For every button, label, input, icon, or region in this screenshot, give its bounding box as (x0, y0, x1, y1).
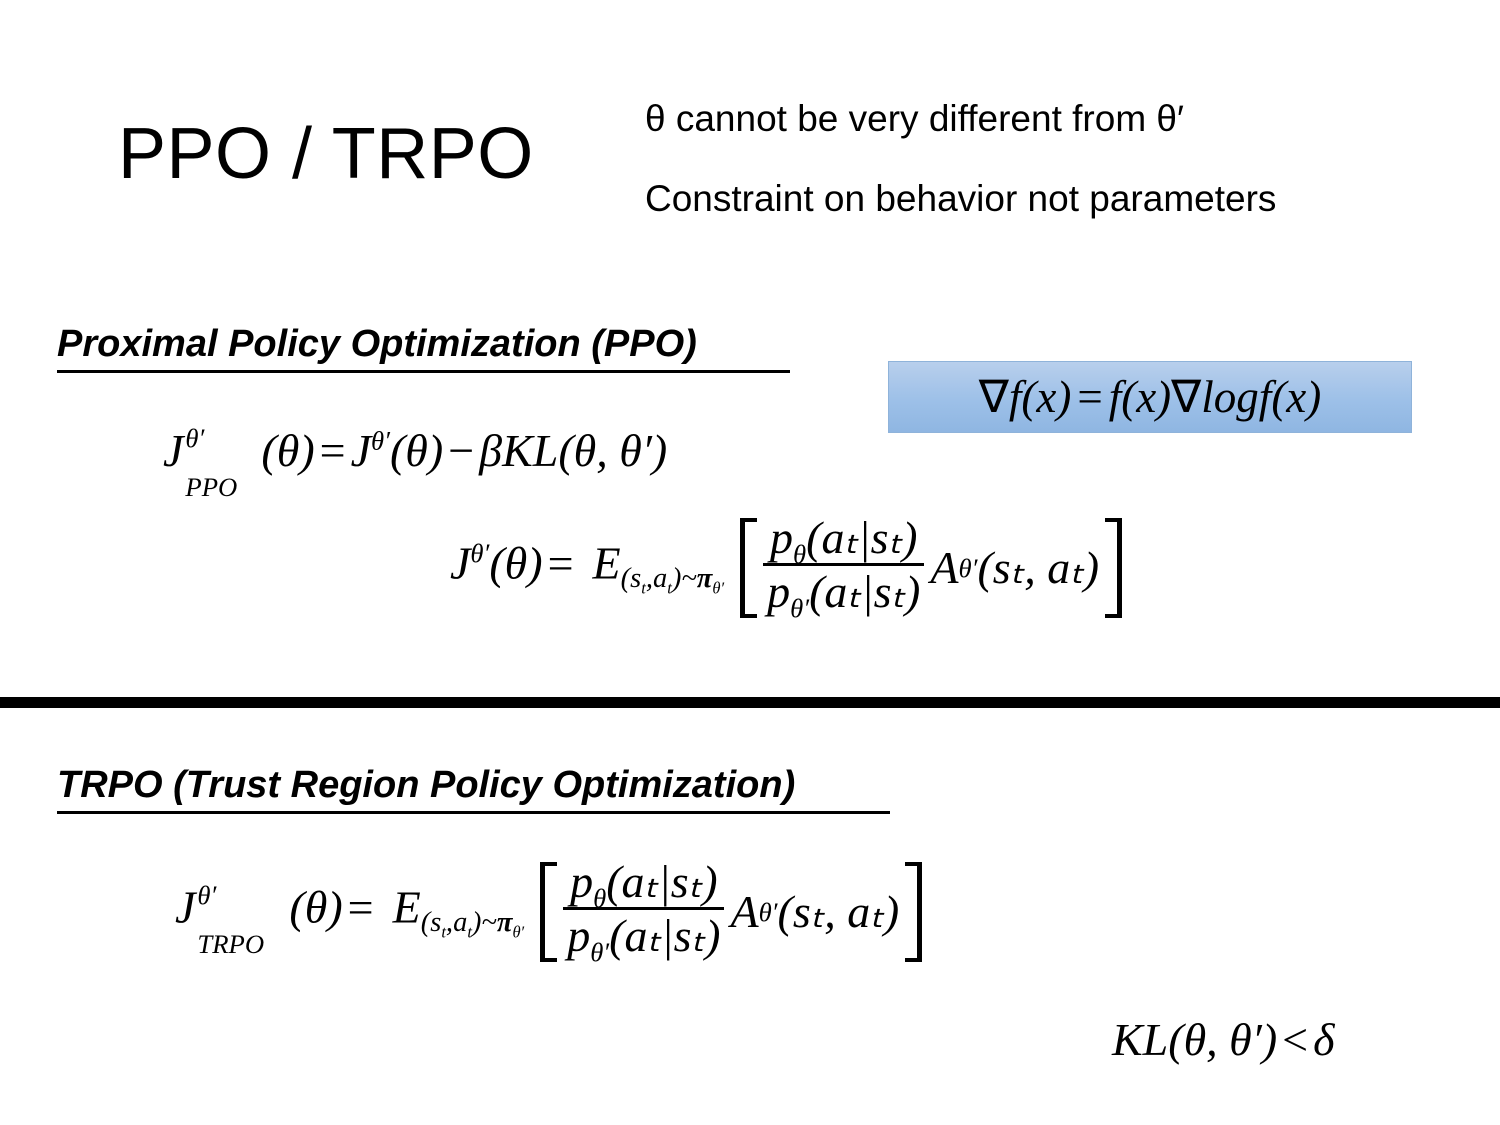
eq-jtp-A-arg: (sₜ, aₜ) (977, 545, 1099, 591)
section-heading-ppo: Proximal Policy Optimization (PPO) (57, 325, 790, 373)
sub-close-paren: ) (672, 563, 682, 594)
highlighted-identity-box: ∇f(x)=f(x)∇logf(x) (888, 361, 1412, 433)
num-p: p (770, 512, 793, 563)
eq-jtp-equals: = (543, 538, 579, 589)
identity-x2: (x) (1121, 372, 1171, 422)
den-p: p (767, 566, 790, 617)
fraction-numerator: pθ(aₜ|sₜ) (763, 515, 924, 566)
eq-jtp-ratio-fraction: pθ(aₜ|sₜ)pθ′(aₜ|sₜ) (763, 515, 924, 615)
note-line-constraint: Constraint on behavior not parameters (645, 180, 1445, 217)
identity-x3: (x) (1271, 372, 1321, 422)
eq-ppo-minus: − (443, 425, 479, 476)
right-bracket-icon (905, 862, 922, 962)
fraction-denominator: pθ′(aₜ|sₜ) (763, 566, 924, 615)
sub-comma: , (446, 907, 453, 938)
identity-equals: = (1071, 372, 1108, 422)
sub-tilde: ~ (681, 563, 696, 594)
sub-open-paren: ( (421, 907, 431, 938)
den-arg: (aₜ|sₜ) (609, 910, 720, 961)
identity-formula: ∇f(x)=f(x)∇logf(x) (979, 375, 1322, 420)
eq-jtp-E-subscript: (st,at)~πθ′ (621, 563, 724, 594)
den-p-sub: θ′ (790, 593, 809, 623)
kl-delta: δ (1313, 1014, 1334, 1065)
eq-ppo-arg: (θ) (261, 425, 314, 476)
eq-ppo-beta: β (479, 425, 502, 476)
eq-jtp-bracket-group: pθ(aₜ|sₜ)pθ′(aₜ|sₜ)Aθ′(sₜ, aₜ) (740, 518, 1122, 618)
page-title: PPO / TRPO (118, 118, 534, 190)
num-p-sub: θ (593, 883, 606, 913)
sub-pi-subscript: θ′ (712, 579, 724, 598)
kl-label: KL (1112, 1014, 1168, 1065)
eq-jtp-sup: θ′ (470, 538, 489, 568)
eq-trpo-A: A (730, 889, 758, 935)
right-bracket-icon (1105, 518, 1122, 618)
fraction-numerator: pθ(aₜ|sₜ) (563, 859, 724, 910)
eq-ppo-KL: KL (502, 425, 558, 476)
equation-kl-constraint: KL(θ, θ′)<δ (1112, 1017, 1335, 1063)
eq-trpo-arg: (θ) (289, 882, 342, 933)
den-p-sub: θ′ (590, 937, 609, 967)
sub-pi-subscript: θ′ (512, 923, 524, 942)
identity-x1: (x) (1021, 372, 1071, 422)
sub-tilde: ~ (481, 907, 496, 938)
num-p-sub: θ (793, 539, 806, 569)
sub-s: s (430, 907, 441, 938)
eq-trpo-A-arg: (sₜ, aₜ) (778, 889, 900, 935)
eq-ppo-J2: J (351, 425, 371, 476)
sub-a: a (653, 563, 667, 594)
eq-jtp-E: E (593, 538, 621, 589)
identity-f2: f (1109, 372, 1122, 422)
left-bracket-icon (740, 518, 757, 618)
left-bracket-icon (540, 862, 557, 962)
equation-ppo-objective: Jθ′PPO(θ)=Jθ′(θ)−βKL(θ, θ′) (163, 428, 667, 474)
identity-f1: f (1009, 372, 1022, 422)
eq-ppo-arg2: (θ) (390, 425, 443, 476)
eq-trpo-equals: = (343, 882, 379, 933)
eq-ppo-equals: = (315, 425, 351, 476)
eq-ppo-J2-sup: θ′ (371, 426, 390, 456)
slide-canvas: PPO / TRPO θ cannot be very different fr… (0, 0, 1500, 1125)
sub-a: a (453, 907, 467, 938)
eq-trpo-bracket-group: pθ(aₜ|sₜ)pθ′(aₜ|sₜ)Aθ′(sₜ, aₜ) (540, 862, 922, 962)
sub-pi: π (497, 907, 513, 938)
fraction-denominator: pθ′(aₜ|sₜ) (563, 910, 724, 959)
sub-close-paren: ) (472, 907, 482, 938)
nabla-icon-2: ∇ (1171, 372, 1201, 422)
equation-j-theta-prime: Jθ′(θ)=E(st,at)~πθ′pθ(aₜ|sₜ)pθ′(aₜ|sₜ)Aθ… (450, 518, 1122, 618)
eq-ppo-klarg: (θ, θ′) (558, 425, 667, 476)
notes-block: θ cannot be very different from θ′ Const… (645, 100, 1445, 217)
num-p: p (570, 856, 593, 907)
sub-s: s (630, 563, 641, 594)
den-arg: (aₜ|sₜ) (809, 566, 920, 617)
nabla-icon-1: ∇ (979, 372, 1009, 422)
eq-jtp-A: A (930, 545, 958, 591)
sub-open-paren: ( (621, 563, 631, 594)
identity-f3: f (1259, 372, 1272, 422)
sub-pi: π (697, 563, 713, 594)
section-divider (0, 697, 1500, 708)
kl-less-than: < (1277, 1014, 1313, 1065)
eq-trpo-E-subscript: (st,at)~πθ′ (421, 907, 524, 938)
sub-comma: , (646, 563, 653, 594)
eq-jtp-J: J (450, 538, 470, 589)
eq-trpo-J: J (175, 882, 195, 933)
num-arg: (aₜ|sₜ) (606, 856, 717, 907)
den-p: p (567, 910, 590, 961)
note-line-theta-difference: θ cannot be very different from θ′ (645, 100, 1445, 137)
eq-ppo-J: J (163, 425, 183, 476)
section-heading-trpo: TRPO (Trust Region Policy Optimization) (57, 766, 890, 814)
kl-arg: (θ, θ′) (1168, 1014, 1277, 1065)
eq-trpo-ratio-fraction: pθ(aₜ|sₜ)pθ′(aₜ|sₜ) (563, 859, 724, 959)
eq-trpo-E: E (393, 882, 421, 933)
identity-log: log (1201, 372, 1259, 422)
num-arg: (aₜ|sₜ) (806, 512, 917, 563)
equation-trpo-objective: Jθ′TRPO(θ)=E(st,at)~πθ′pθ(aₜ|sₜ)pθ′(aₜ|s… (175, 862, 922, 962)
eq-jtp-arg: (θ) (489, 538, 542, 589)
